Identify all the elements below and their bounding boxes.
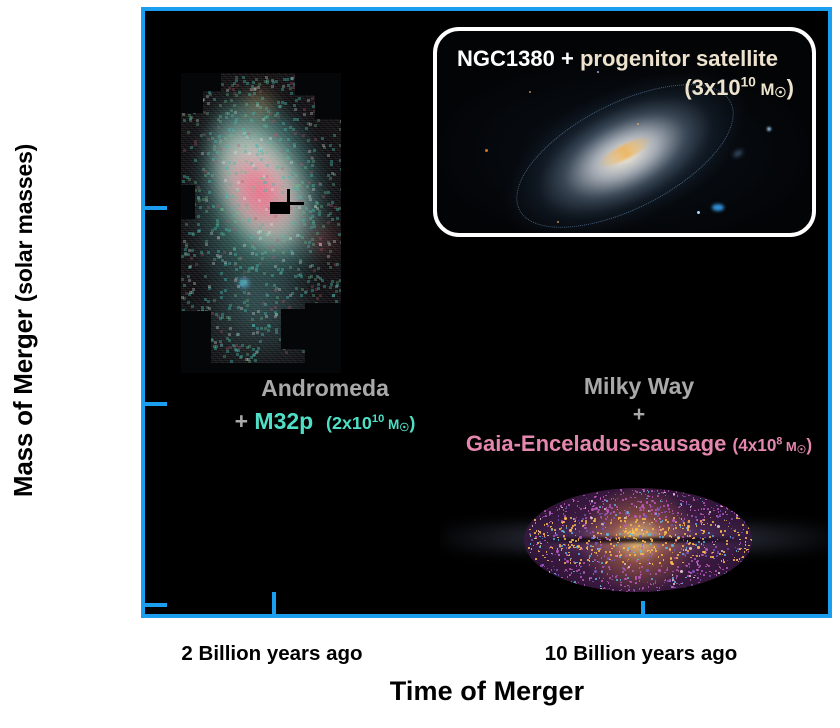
milkyway-mass-unit-m: M (786, 439, 797, 454)
star-speck (644, 491, 646, 493)
mosaic-pixel (204, 298, 207, 301)
star-speck (741, 548, 743, 550)
mosaic-pixel (283, 78, 286, 81)
star-speck (639, 492, 641, 494)
mosaic-pixel (192, 288, 195, 291)
star-speck (743, 529, 745, 531)
mosaic-pixel (208, 285, 211, 288)
star-speck (709, 536, 711, 538)
star-speck (650, 556, 652, 558)
mosaic-pixel (219, 317, 222, 320)
milkyway-mass-prefix: (4x10 (732, 435, 776, 455)
star-speck (603, 496, 605, 498)
star-speck (654, 491, 656, 493)
mosaic-pixel (310, 171, 313, 174)
star-speck (627, 520, 629, 522)
mosaic-pixel (210, 232, 213, 235)
star-speck (539, 546, 541, 548)
star-speck (718, 572, 720, 574)
star-speck (684, 533, 686, 535)
star-speck (601, 562, 603, 564)
mosaic-pixel (318, 182, 321, 185)
star-speck (587, 546, 589, 548)
star-speck (589, 513, 591, 515)
star-speck (610, 512, 612, 514)
mosaic-pixel (327, 154, 330, 157)
mosaic-pixel (228, 229, 231, 232)
mosaic-pixel (234, 151, 237, 154)
star-speck (599, 506, 601, 508)
star-speck (592, 531, 595, 534)
star-speck (655, 573, 657, 575)
star-speck (602, 528, 604, 530)
mosaic-pixel (263, 124, 266, 127)
mosaic-pixel (336, 217, 339, 220)
mosaic-pixel (185, 223, 188, 226)
star-speck (586, 498, 588, 500)
star-speck (613, 517, 616, 520)
star-speck (549, 512, 551, 514)
star-speck (529, 529, 531, 531)
mosaic-pixel (339, 279, 341, 282)
ngc1380-mass-prefix: (3x10 (684, 75, 740, 100)
ngc1380-inset-panel: NGC1380 + progenitor satellite (3x1010 M… (433, 27, 816, 237)
mosaic-pixel (282, 176, 285, 179)
mosaic-pixel (221, 83, 224, 86)
star-speck (638, 576, 641, 579)
star-speck (591, 502, 593, 504)
mosaic-pixel (250, 119, 253, 122)
star-speck (664, 572, 666, 574)
star-speck (594, 570, 597, 573)
mosaic-pixel (330, 163, 333, 166)
mosaic-pixel (240, 170, 243, 173)
mosaic-pixel (307, 99, 310, 102)
star-speck (698, 541, 700, 543)
star-speck (672, 571, 674, 573)
star-speck (611, 579, 613, 581)
mosaic-pixel (183, 119, 186, 122)
mosaic-pixel (232, 129, 235, 132)
mosaic-pixel (313, 225, 316, 228)
star-speck (595, 578, 597, 580)
star-speck (672, 574, 674, 576)
mosaic-pixel (251, 252, 254, 255)
star-speck (636, 506, 638, 508)
mosaic-pixel (197, 223, 200, 226)
mosaic-pixel (197, 196, 200, 199)
mosaic-pixel (216, 326, 219, 329)
star-speck (561, 577, 563, 579)
star-speck (566, 547, 568, 549)
star-speck (629, 507, 631, 509)
star-speck (639, 563, 641, 565)
star-speck (672, 510, 674, 512)
star-speck (578, 569, 580, 571)
star-speck (671, 544, 674, 547)
star-speck (593, 573, 595, 575)
mosaic-pixel (225, 112, 228, 115)
star-speck (740, 542, 742, 544)
mosaic-pixel (332, 294, 335, 297)
mosaic-pixel (265, 283, 268, 286)
star-speck (705, 548, 708, 551)
star-speck (590, 545, 592, 547)
star-speck (649, 524, 651, 526)
mosaic-pixel (219, 139, 222, 142)
star-speck (748, 545, 750, 547)
star-speck (554, 569, 556, 571)
star-speck (561, 549, 563, 551)
star-speck (575, 528, 577, 530)
star-speck (651, 513, 653, 515)
star-speck (681, 583, 683, 585)
star-speck (534, 519, 536, 521)
mosaic-pixel (257, 86, 260, 89)
star-speck (674, 557, 676, 559)
star-speck (724, 554, 726, 556)
star-speck (640, 501, 642, 503)
star-speck (553, 566, 555, 568)
star-speck (577, 501, 579, 503)
star-speck (579, 522, 581, 524)
star-speck (684, 587, 686, 589)
mosaic-pixel (229, 252, 232, 255)
mosaic-pixel (261, 152, 264, 155)
mosaic-pixel (214, 341, 217, 344)
star-speck (738, 565, 740, 567)
star-speck (702, 514, 704, 516)
star-speck (545, 515, 547, 517)
star-speck (530, 543, 532, 545)
mosaic-pixel (287, 157, 290, 160)
star-speck (711, 507, 713, 509)
star-speck (719, 516, 721, 518)
mosaic-pixel (261, 257, 264, 260)
mosaic-pixel (224, 179, 227, 182)
mosaic-pixel (268, 325, 271, 328)
star-speck (616, 544, 618, 546)
star-speck (655, 582, 657, 584)
star-speck (619, 556, 621, 558)
mosaic-pixel (220, 232, 223, 235)
star-speck (570, 517, 572, 519)
star-speck (703, 574, 705, 576)
andromeda-galaxy-image (181, 73, 341, 373)
mosaic-pixel (241, 219, 244, 222)
mosaic-pixel (235, 277, 238, 280)
star-speck (581, 520, 583, 522)
star-speck (645, 546, 647, 548)
mosaic-pixel (252, 312, 255, 315)
star-speck (625, 555, 627, 557)
star-speck (655, 520, 657, 522)
star-speck (639, 507, 641, 509)
star-speck (676, 491, 678, 493)
star-speck (558, 574, 560, 576)
star-speck (691, 560, 693, 562)
star-speck (735, 529, 737, 531)
mosaic-pixel (303, 113, 306, 116)
mosaic-pixel (259, 106, 262, 109)
star-speck (704, 516, 706, 518)
star-speck (726, 540, 728, 542)
star-speck (540, 518, 542, 520)
star-speck (584, 584, 586, 586)
mosaic-pixel (197, 230, 200, 233)
star-speck (576, 562, 578, 564)
mosaic-pixel (237, 144, 240, 147)
star-speck (719, 514, 721, 516)
star-speck (658, 513, 660, 515)
star-speck (688, 521, 690, 523)
star-speck (698, 509, 700, 511)
star-speck (544, 557, 546, 559)
mosaic-pixel (226, 350, 229, 353)
mosaic-pixel (272, 249, 275, 252)
mosaic-pixel (185, 245, 188, 248)
mosaic-pixel (267, 110, 270, 113)
star-speck (564, 503, 566, 505)
star-speck (662, 520, 664, 522)
star-speck (697, 546, 700, 549)
star-speck (642, 544, 644, 546)
star-speck (606, 590, 608, 592)
star-speck (657, 495, 659, 497)
star-speck (740, 561, 742, 563)
mosaic-pixel (206, 112, 209, 115)
star-speck (571, 569, 573, 571)
star-speck (677, 495, 679, 497)
star-speck (584, 514, 586, 516)
star-speck (604, 555, 606, 557)
mosaic-pixel (314, 278, 317, 281)
star-speck (597, 555, 599, 557)
andromeda-caption: Andromeda + M32p (2x1010 M☉) (165, 374, 485, 436)
star-speck (664, 580, 666, 582)
mosaic-pixel (339, 159, 341, 162)
star-speck (642, 518, 644, 520)
mosaic-pixel (322, 144, 325, 147)
star-speck (608, 582, 610, 584)
mosaic-pixel (235, 172, 238, 175)
star-speck (648, 586, 650, 588)
milkyway-mass-close-paren: ) (806, 435, 812, 455)
mosaic-pixel (329, 177, 332, 180)
mosaic-pixel (333, 173, 336, 176)
star-speck (592, 546, 594, 548)
star-speck (630, 564, 632, 566)
star-speck (607, 516, 609, 518)
star-speck (703, 524, 705, 526)
mosaic-pixel (302, 219, 305, 222)
star-speck (701, 554, 704, 557)
mosaic-pixel (224, 278, 227, 281)
mosaic-pixel (329, 266, 332, 269)
mosaic-pixel (184, 248, 187, 251)
milkyway-satellite-line: Gaia-Enceladus-sausage (4x108 M☉) (445, 431, 828, 457)
star-speck (651, 506, 653, 508)
star-speck (731, 528, 733, 530)
mosaic-pixel (275, 133, 278, 136)
star-speck (608, 566, 610, 568)
mosaic-pixel (243, 80, 246, 83)
mosaic-pixel (242, 128, 245, 131)
mosaic-pixel (281, 268, 284, 271)
mosaic-pixel (265, 315, 268, 318)
mosaic-pixel (237, 333, 240, 336)
star-speck (700, 498, 702, 500)
mosaic-pixel (340, 188, 341, 191)
star-speck (703, 541, 705, 543)
star-speck (544, 566, 546, 568)
mosaic-pixel (313, 269, 316, 272)
star-speck (612, 575, 614, 577)
star-speck (694, 510, 696, 512)
mosaic-pixel (244, 145, 247, 148)
star-speck (611, 548, 613, 550)
star-speck (697, 560, 699, 562)
star-speck (592, 581, 594, 583)
star-speck (637, 521, 639, 523)
star-speck (708, 532, 710, 534)
mosaic-pixel (205, 243, 208, 246)
star-speck (558, 554, 560, 556)
x-tick-mark-2byr (272, 592, 276, 614)
mosaic-pixel (213, 299, 216, 302)
star-speck (604, 514, 606, 516)
mosaic-pixel (314, 124, 317, 127)
mosaic-pixel (292, 128, 295, 131)
star-speck (575, 540, 577, 542)
mosaic-pixel (196, 119, 199, 122)
star-speck (594, 559, 596, 561)
star-speck (657, 515, 659, 517)
mosaic-pixel (288, 176, 291, 179)
mosaic-pixel (287, 138, 290, 141)
star-speck (643, 529, 645, 531)
star-speck (534, 532, 536, 534)
andromeda-mass-unit-m: M (388, 417, 399, 432)
star-speck (528, 547, 530, 549)
andromeda-title: Andromeda (165, 374, 485, 403)
star-speck (660, 506, 662, 508)
star-speck (583, 524, 586, 527)
star-speck (634, 497, 636, 499)
star-speck (649, 563, 651, 565)
mosaic-pixel (228, 128, 231, 131)
star-speck (535, 558, 537, 560)
mosaic-pixel (271, 274, 274, 277)
star-speck (652, 497, 654, 499)
star-speck (701, 523, 703, 525)
mosaic-pixel (260, 317, 263, 320)
star-speck (531, 539, 533, 541)
star-speck (688, 563, 690, 565)
star-speck (722, 513, 724, 515)
mosaic-pixel (224, 289, 227, 292)
star-speck (727, 548, 729, 550)
star-speck (691, 584, 693, 586)
mosaic-pixel (340, 120, 341, 123)
star-speck (682, 536, 684, 538)
star-speck (662, 544, 664, 546)
star-speck (658, 569, 661, 572)
mosaic-pixel (312, 188, 315, 191)
star-speck (680, 526, 682, 528)
mosaic-pixel (218, 135, 221, 138)
mosaic-pixel (183, 149, 186, 152)
star-speck (701, 570, 703, 572)
star-speck (552, 547, 554, 549)
star-speck (596, 526, 598, 528)
mosaic-pixel (233, 247, 236, 250)
star-speck (597, 492, 599, 494)
star-speck (575, 512, 577, 514)
star-speck (546, 551, 548, 553)
star-speck (567, 576, 569, 578)
star-speck (610, 522, 612, 524)
mosaic-pixel (194, 181, 197, 184)
star-speck (585, 517, 587, 519)
star-speck (709, 575, 711, 577)
mosaic-pixel (246, 353, 249, 356)
background-star (767, 127, 771, 131)
mosaic-pixel (334, 263, 337, 266)
star-speck (565, 511, 567, 513)
star-speck (677, 512, 679, 514)
mosaic-pixel (310, 174, 313, 177)
mosaic-pixel (286, 149, 289, 152)
star-speck (667, 521, 669, 523)
star-speck (538, 551, 540, 553)
star-speck (624, 578, 627, 581)
mosaic-pixel (200, 134, 203, 137)
background-star (697, 211, 700, 214)
ngc1380-mass-unit-sun: ☉ (774, 85, 786, 100)
mosaic-pixel (237, 181, 240, 184)
mosaic-pixel (226, 167, 229, 170)
mosaic-pixel (246, 207, 249, 210)
star-speck (748, 527, 750, 529)
star-speck (739, 548, 741, 550)
star-speck (697, 577, 699, 579)
star-speck (620, 520, 622, 522)
mosaic-pixel (253, 243, 256, 246)
star-speck (609, 577, 611, 579)
mosaic-pixel (260, 138, 263, 141)
star-speck (685, 549, 687, 551)
mosaic-pixel (327, 241, 330, 244)
star-speck (578, 582, 580, 584)
star-speck (588, 510, 590, 512)
mosaic-pixel (228, 172, 231, 175)
star-speck (679, 552, 681, 554)
star-speck (609, 539, 611, 541)
mosaic-pixel (308, 241, 311, 244)
star-speck (597, 532, 599, 534)
star-speck (630, 497, 632, 499)
mosaic-pixel (252, 186, 255, 189)
mosaic-pixel (272, 120, 275, 123)
mosaic-pixel (214, 140, 217, 143)
star-speck (674, 549, 676, 551)
star-speck (556, 550, 559, 553)
x-tick-label-10byr: 10 Billion years ago (545, 642, 738, 666)
andromeda-mass-label: (2x1010 M☉) (326, 413, 415, 433)
star-speck (681, 513, 683, 515)
star-speck (670, 557, 673, 560)
